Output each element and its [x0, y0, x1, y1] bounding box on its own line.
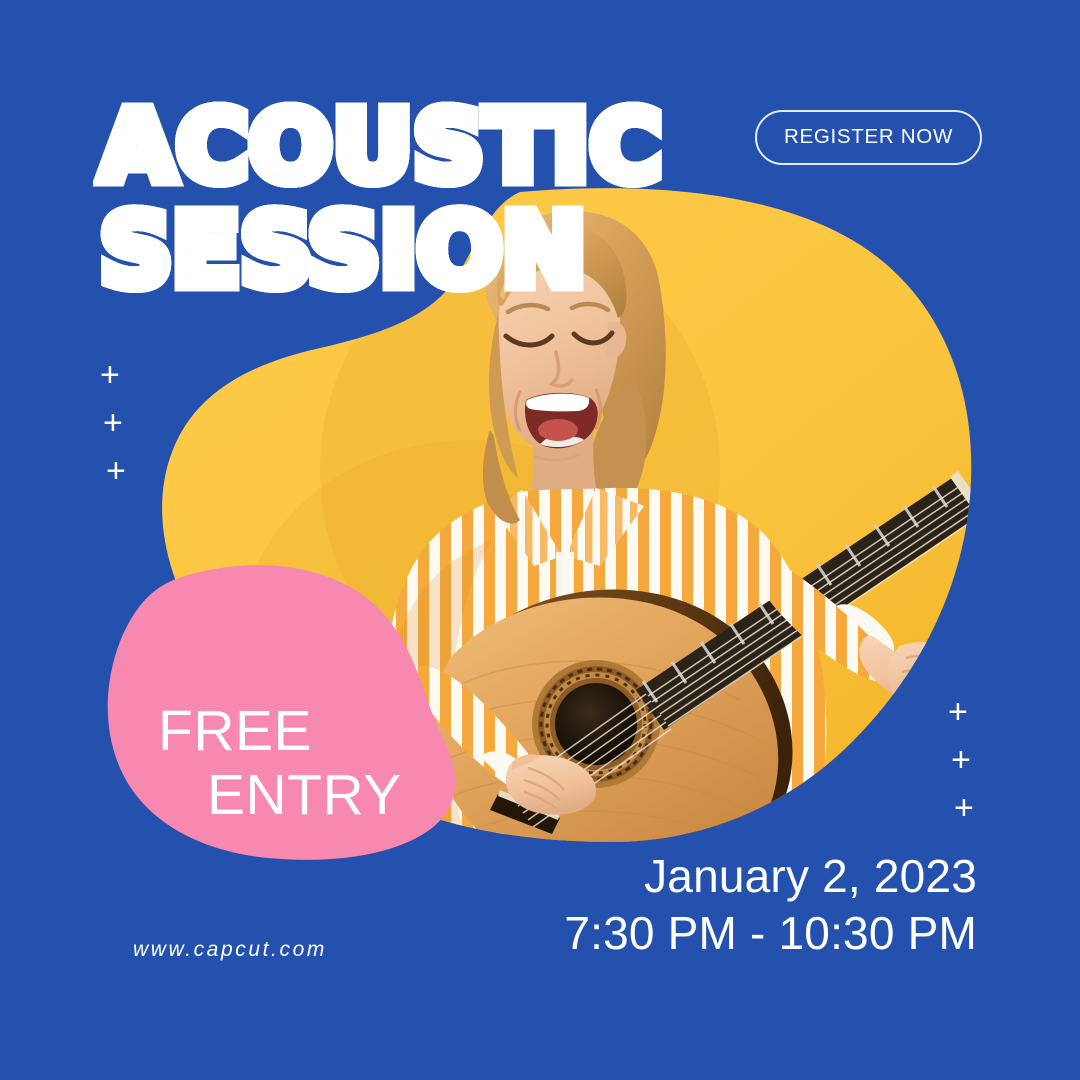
register-now-button[interactable]: REGISTER NOW	[755, 110, 982, 165]
free-entry-line-1: FREE	[158, 699, 312, 763]
website-url[interactable]: www.capcut.com	[133, 938, 327, 962]
plus-icon: +	[951, 743, 971, 777]
title-line-1: ACOUSTIC	[100, 103, 663, 190]
guitar-soundhole	[555, 683, 637, 765]
plus-icon: +	[954, 791, 974, 825]
poster-canvas: ACOUSTIC SESSION REGISTER NOW + + + + + …	[0, 0, 1080, 1080]
plus-icon: +	[106, 454, 126, 488]
event-time: 7:30 PM - 10:30 PM	[564, 905, 977, 962]
plus-icon: +	[948, 695, 968, 729]
plus-icon: +	[103, 406, 123, 440]
free-entry-badge: FREE ENTRY	[158, 700, 402, 828]
free-entry-line-2: ENTRY	[207, 764, 402, 828]
event-datetime: January 2, 2023 7:30 PM - 10:30 PM	[564, 848, 977, 962]
title-line-2: SESSION	[100, 206, 663, 296]
plus-icon: +	[100, 358, 120, 392]
page-title: ACOUSTIC SESSION	[100, 103, 663, 296]
event-date: January 2, 2023	[564, 848, 977, 905]
